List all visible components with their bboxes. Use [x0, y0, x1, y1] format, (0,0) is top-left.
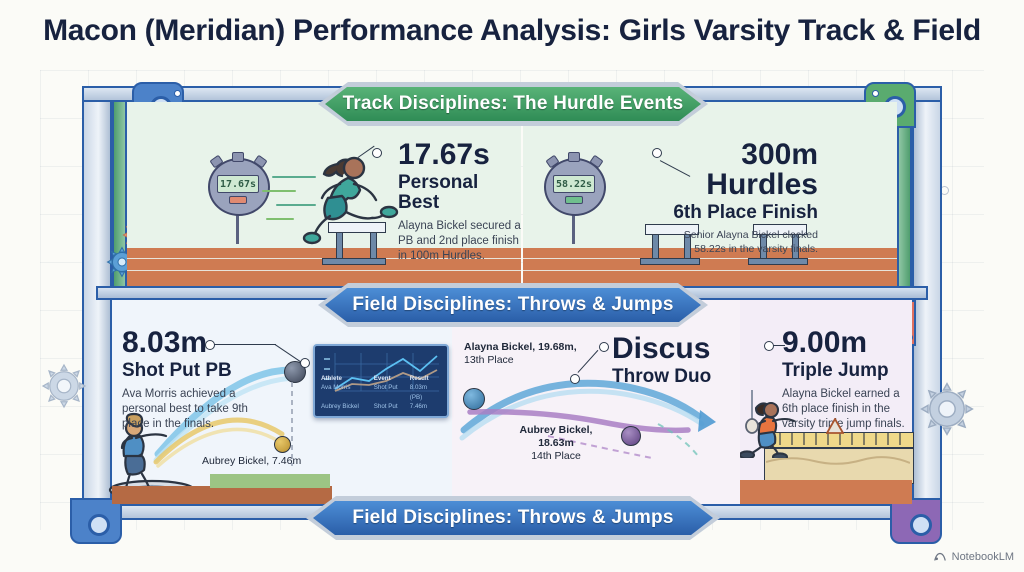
watermark: NotebookLM: [933, 550, 1014, 564]
stat-subtitle-300m: 6th Place Finish: [668, 203, 818, 223]
stopwatch-display-left: 17.67s: [217, 175, 259, 193]
stat-body-100m: Alayna Bickel secured a PB and 2nd place…: [398, 219, 524, 264]
stat-value-300m: 300m Hurdles: [668, 140, 818, 200]
label-aubrey-discus-distance: 18.63m: [538, 437, 574, 449]
cell-event: Shot Put: [374, 402, 410, 412]
table-row: Aubrey Bickel Shot Put 7.46m: [321, 402, 441, 412]
stopwatch-right: 58.22s: [544, 158, 606, 216]
banner-field-disciplines-bottom: Field Disciplines: Throws & Jumps: [313, 501, 713, 535]
hurdle-base: [748, 258, 808, 265]
stat-subtitle-100m: Personal Best: [398, 173, 524, 213]
stopwatch-crown[interactable]: [568, 152, 580, 162]
cell-result: 7.46m: [410, 402, 441, 412]
frame-corner-bottom-right: [890, 498, 942, 544]
stat-block-100m-hurdles: 17.67s Personal Best Alayna Bickel secur…: [398, 140, 524, 264]
shot-put-ground-strip: [112, 486, 332, 504]
page-title: Macon (Meridian) Performance Analysis: G…: [0, 14, 1024, 48]
callout-dot-shot-put-end: [300, 358, 310, 368]
stat-block-300m-hurdles: 300m Hurdles 6th Place Finish Senior Ala…: [668, 140, 818, 256]
stat-subtitle-discus: Throw Duo: [612, 367, 736, 387]
track-lane-line: [523, 270, 897, 271]
stat-value-triple-jump: 9.00m: [782, 328, 914, 358]
pin-icon: [174, 90, 181, 97]
discus-disc-alayna: [463, 388, 485, 410]
cell-result: 8.03m (PB): [410, 383, 441, 402]
pin-icon: [872, 90, 879, 97]
stat-block-discus: Discus Throw Duo: [612, 334, 736, 387]
gear-icon-large-right: [918, 380, 976, 438]
shot-put-ball-secondary: [274, 436, 291, 453]
stat-body-300m: Senior Alayna Bickel clocked 58.22s in t…: [668, 229, 818, 256]
discus-disc-aubrey: [621, 426, 641, 446]
callout-dot-discus-end: [570, 374, 580, 384]
callout-line-shot-put: [214, 344, 276, 345]
label-aubrey-shot-put-text: Aubrey Bickel, 7.46m: [202, 455, 301, 467]
hurdle-base: [640, 258, 700, 265]
cell-athlete: Ava Morris: [321, 383, 374, 402]
label-aubrey-discus-place: 14th Place: [531, 450, 581, 462]
watermark-label: NotebookLM: [952, 551, 1014, 563]
data-card-table: Athlete Event Result Ava Morris Shot Put…: [321, 374, 441, 412]
table-col-event: Event: [374, 374, 410, 384]
callout-line-triple-jump: [773, 345, 785, 346]
speed-line: [266, 218, 294, 220]
track-lane-line: [127, 270, 521, 271]
bolt-icon: [88, 514, 110, 536]
stat-subtitle-triple-jump: Triple Jump: [782, 361, 914, 381]
stat-value-discus: Discus: [612, 334, 736, 364]
infographic-canvas: Macon (Meridian) Performance Analysis: G…: [0, 0, 1024, 572]
label-aubrey-shot-put: Aubrey Bickel, 7.46m: [202, 455, 301, 468]
stopwatch-button[interactable]: [565, 196, 583, 204]
banner-field-middle-label: Field Disciplines: Throws & Jumps: [352, 294, 673, 316]
hurdle-base: [322, 258, 386, 265]
label-alayna-discus-place: 13th Place: [464, 354, 514, 366]
label-alayna-discus-name: Alayna Bickel, 19.68m,: [464, 341, 577, 353]
label-alayna-discus: Alayna Bickel, 19.68m, 13th Place: [464, 341, 594, 367]
stat-body-shot-put: Ava Morris achieved a personal best to t…: [122, 387, 248, 432]
frame-corner-bottom-left: [70, 498, 122, 544]
table-row: Ava Morris Shot Put 8.03m (PB): [321, 383, 441, 402]
triple-jump-ground-strip: [740, 480, 912, 504]
shot-put-grass-strip: [210, 474, 330, 488]
callout-dot-100m: [372, 148, 382, 158]
label-aubrey-discus-name: Aubrey Bickel,: [520, 424, 593, 436]
notebooklm-logo-icon: [933, 550, 947, 564]
stat-value-100m: 17.67s: [398, 140, 524, 170]
label-aubrey-discus: Aubrey Bickel, 18.63m 14th Place: [500, 424, 612, 463]
stopwatch-display-right: 58.22s: [553, 175, 595, 193]
stopwatch-left: 17.67s: [208, 158, 270, 216]
speed-line: [262, 190, 296, 192]
stopwatch-button[interactable]: [229, 196, 247, 204]
triple-jump-pole-marker: [744, 390, 760, 440]
bolt-icon: [910, 514, 932, 536]
table-header-row: Athlete Event Result: [321, 374, 441, 384]
callout-dot-300m: [652, 148, 662, 158]
banner-track-disciplines: Track Disciplines: The Hurdle Events: [325, 87, 701, 121]
table-col-result: Result: [410, 374, 441, 384]
hurdler-figure-icon: [292, 140, 400, 250]
data-card-results[interactable]: Athlete Event Result Ava Morris Shot Put…: [313, 344, 449, 418]
cell-event: Shot Put: [374, 383, 410, 402]
table-col-athlete: Athlete: [321, 374, 374, 384]
gear-icon-bottom-left: [40, 362, 88, 410]
cell-athlete: Aubrey Bickel: [321, 402, 374, 412]
banner-field-bottom-label: Field Disciplines: Throws & Jumps: [352, 507, 673, 529]
triple-jump-marker-cone-icon: [826, 418, 844, 434]
hurdle-crossbar: [328, 222, 386, 233]
track-lane-line: [523, 258, 897, 259]
banner-field-disciplines-middle: Field Disciplines: Throws & Jumps: [325, 288, 701, 322]
stat-subtitle-shot-put: Shot Put PB: [122, 361, 294, 381]
stopwatch-crown[interactable]: [232, 152, 244, 162]
frame-beam-right: [912, 96, 942, 520]
callout-dot-discus: [599, 342, 609, 352]
banner-track-label: Track Disciplines: The Hurdle Events: [343, 93, 684, 115]
